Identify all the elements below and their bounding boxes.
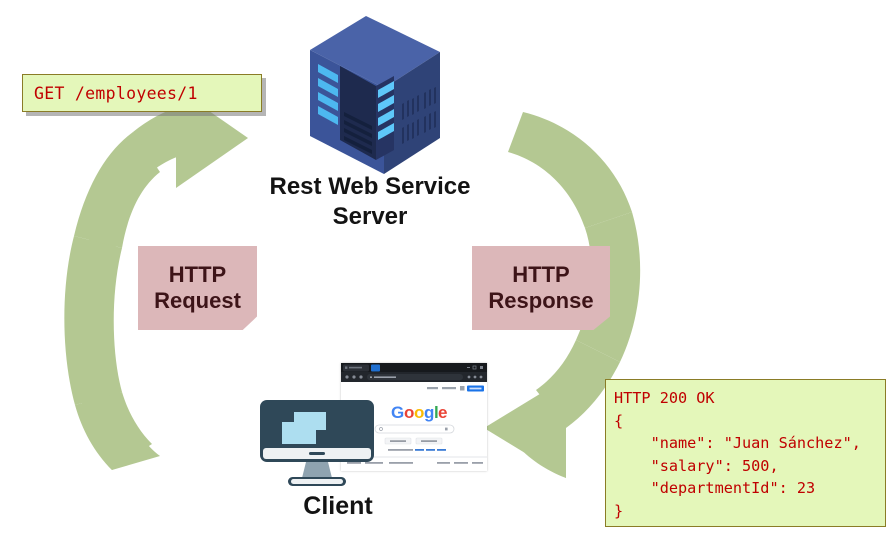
response-line-4: "departmentId": 23 [614, 477, 885, 500]
server-label-line1: Rest Web Service [270, 173, 471, 200]
server-label-line2: Server [333, 203, 408, 230]
svg-text:g: g [424, 403, 434, 422]
get-request-text: GET /employees/1 [34, 84, 198, 103]
desktop-monitor-icon [258, 398, 376, 492]
server-tower-icon [298, 8, 450, 176]
response-line-5: } [614, 500, 885, 523]
http-request-line1: HTTP [169, 262, 226, 288]
svg-text:o: o [404, 403, 414, 422]
server-label: Rest Web Service Server [225, 172, 515, 232]
svg-text:G: G [391, 403, 404, 422]
http-response-code-box: HTTP 200 OK { "name": "Juan Sánchez", "s… [605, 379, 886, 527]
http-response-line1: HTTP [512, 262, 569, 288]
http-request-line2: Request [154, 288, 241, 314]
client-label: Client [258, 492, 418, 521]
response-line-2: "name": "Juan Sánchez", [614, 432, 885, 455]
response-line-3: "salary": 500, [614, 455, 885, 478]
http-response-label: HTTP Response [472, 246, 610, 330]
http-request-label: HTTP Request [138, 246, 257, 330]
response-line-1: { [614, 410, 885, 433]
http-response-line2: Response [488, 288, 593, 314]
diagram-canvas: Rest Web Service Server GET /employees/1… [0, 0, 891, 533]
response-line-0: HTTP 200 OK [614, 387, 885, 410]
svg-text:o: o [414, 403, 424, 422]
svg-text:e: e [438, 403, 447, 422]
get-request-box: GET /employees/1 [22, 74, 262, 112]
